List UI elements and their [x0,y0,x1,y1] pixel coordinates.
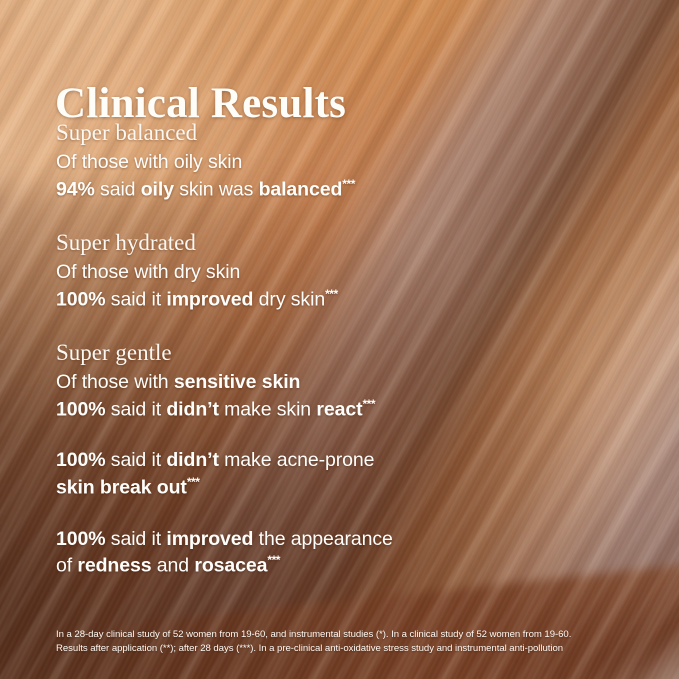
emphasis-text: improved [166,289,253,311]
result-stat-line: 100% said it didn’t make skin react*** [56,396,616,423]
result-stat-line: skin break out*** [56,474,616,501]
footnote: In a 28-day clinical study of 52 women f… [56,628,640,655]
result-stat-line: Of those with oily skin [56,149,616,176]
plain-text: said it [105,398,166,420]
footnote-marker: *** [342,177,355,191]
footnote-marker: *** [325,287,338,301]
plain-text: the appearance [253,528,392,550]
plain-text: and [151,555,194,577]
plain-text: said [95,179,141,201]
emphasis-text: 100% [56,398,105,420]
result-stat-line: of redness and rosacea*** [56,552,616,579]
result-block-heading: Super hydrated [56,228,616,257]
footnote-marker: *** [187,475,200,489]
emphasis-text: balanced [259,179,343,201]
footnote-marker: *** [267,553,280,567]
footnote-marker: *** [362,397,375,411]
emphasis-text: 100% [56,528,105,550]
plain-text: said it [105,449,166,471]
emphasis-text: sensitive skin [174,371,301,393]
result-block-heading: Super balanced [56,118,616,147]
result-block: 100% said it didn’t make acne-proneskin … [56,447,616,501]
plain-text: Of those with dry skin [56,261,240,283]
result-block: Super hydratedOf those with dry skin100%… [56,228,616,314]
result-block-heading: Super gentle [56,338,616,367]
emphasis-text: rosacea [194,555,267,577]
footnote-line-2: Results after application (**); after 28… [56,642,640,656]
result-stat-line: Of those with sensitive skin [56,369,616,396]
emphasis-text: 94% [56,179,95,201]
plain-text: skin was [174,179,259,201]
emphasis-text: skin break out [56,477,187,499]
plain-text: make acne-prone [219,449,375,471]
poster-content: Clinical Results Super balancedOf those … [0,0,679,679]
emphasis-text: redness [77,555,151,577]
emphasis-text: react [316,398,362,420]
result-block: 100% said it improved the appearanceof r… [56,526,616,580]
plain-text: said it [105,528,166,550]
emphasis-text: didn’t [166,449,218,471]
results-block-list: Super balancedOf those with oily skin94%… [56,118,616,580]
result-stat-line: 100% said it improved the appearance [56,526,616,553]
plain-text: make skin [219,398,317,420]
result-stat-line: 100% said it improved dry skin*** [56,286,616,313]
emphasis-text: oily [141,179,174,201]
result-stat-line: 94% said oily skin was balanced*** [56,176,616,203]
plain-text: said it [105,289,166,311]
plain-text: Of those with [56,371,174,393]
emphasis-text: improved [166,528,253,550]
result-stat-line: Of those with dry skin [56,259,616,286]
footnote-line-1: In a 28-day clinical study of 52 women f… [56,628,640,642]
result-block: Super balancedOf those with oily skin94%… [56,118,616,204]
result-stat-line: 100% said it didn’t make acne-prone [56,447,616,474]
emphasis-text: 100% [56,289,105,311]
plain-text: of [56,555,77,577]
clinical-results-poster: Clinical Results Super balancedOf those … [0,0,679,679]
plain-text: Of those with oily skin [56,151,242,173]
emphasis-text: didn’t [166,398,218,420]
result-block: Super gentleOf those with sensitive skin… [56,338,616,424]
plain-text: dry skin [253,289,325,311]
emphasis-text: 100% [56,449,105,471]
